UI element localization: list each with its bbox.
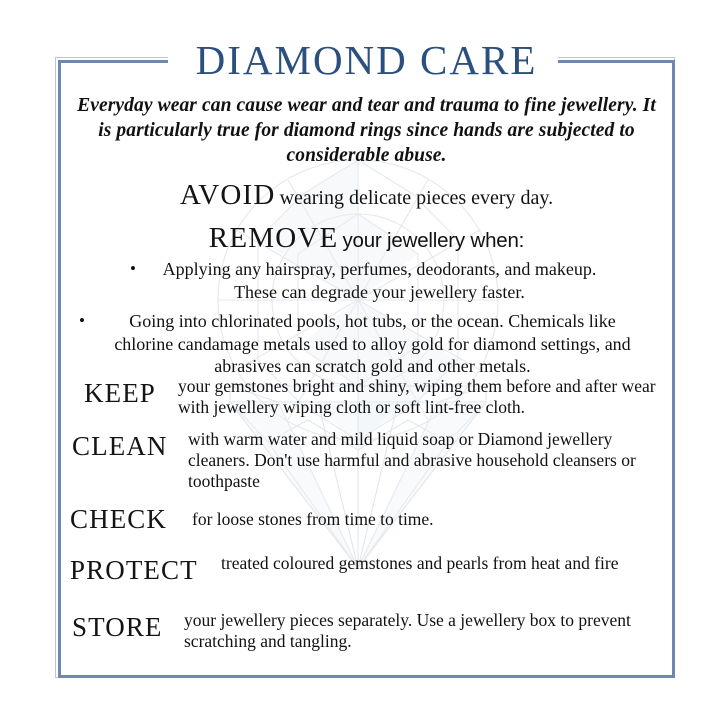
section-protect: PROTECT treated coloured gemstones and p… bbox=[66, 553, 667, 574]
list-item: • Applying any hairspray, perfumes, deod… bbox=[66, 258, 667, 303]
keyword-remove: REMOVE bbox=[209, 222, 339, 254]
poster-content: DIAMOND CARE Everyday wear can cause wea… bbox=[58, 60, 675, 678]
keyword-remove-body: your jewellery when: bbox=[342, 229, 524, 252]
keyword-clean: CLEAN bbox=[72, 431, 168, 462]
section-clean: CLEAN with warm water and mild liquid so… bbox=[66, 429, 667, 492]
list-item-text: Applying any hairspray, perfumes, deodor… bbox=[66, 258, 667, 303]
keyword-check: CHECK bbox=[70, 504, 167, 535]
page-title: DIAMOND CARE bbox=[58, 38, 675, 82]
section-keep-body: your gemstones bright and shiny, wiping … bbox=[178, 376, 667, 418]
section-protect-body: treated coloured gemstones and pearls fr… bbox=[221, 553, 667, 574]
section-keep: KEEP your gemstones bright and shiny, wi… bbox=[66, 376, 667, 418]
bullet-marker-icon: • bbox=[130, 258, 136, 281]
section-check: CHECK for loose stones from time to time… bbox=[66, 503, 667, 530]
keyword-avoid-body: wearing delicate pieces every day. bbox=[280, 187, 554, 209]
bullet-marker-icon: • bbox=[79, 310, 85, 333]
keyword-avoid: AVOID bbox=[180, 179, 276, 211]
keyword-protect: PROTECT bbox=[70, 555, 198, 586]
headline-avoid: AVOID wearing delicate pieces every day. bbox=[58, 179, 675, 212]
intro-paragraph: Everyday wear can cause wear and tear an… bbox=[74, 93, 659, 168]
section-check-body: for loose stones from time to time. bbox=[192, 503, 667, 530]
headline-remove: REMOVE your jewellery when: bbox=[58, 222, 675, 255]
diamond-care-poster: DIAMOND CARE Everyday wear can cause wea… bbox=[0, 0, 720, 720]
keyword-keep: KEEP bbox=[84, 378, 156, 409]
keyword-store: STORE bbox=[72, 612, 163, 643]
list-item: • Going into chlorinated pools, hot tubs… bbox=[66, 310, 667, 378]
section-store-body: your jewellery pieces separately. Use a … bbox=[184, 610, 667, 652]
list-item-text: Going into chlorinated pools, hot tubs, … bbox=[66, 310, 667, 378]
section-store: STORE your jewellery pieces separately. … bbox=[66, 610, 667, 652]
section-clean-body: with warm water and mild liquid soap or … bbox=[188, 429, 667, 492]
remove-bullet-list: • Applying any hairspray, perfumes, deod… bbox=[66, 258, 667, 385]
